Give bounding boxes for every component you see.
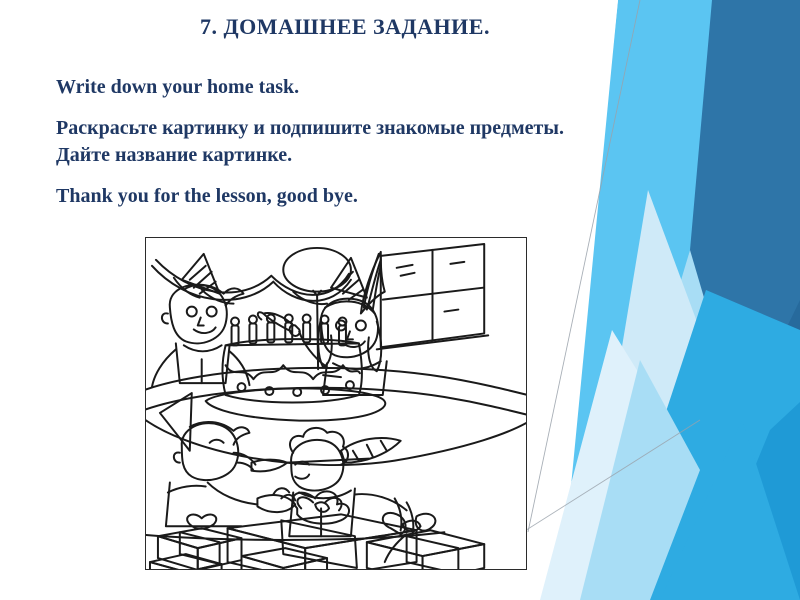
child-right-hat-stripe-2 [367, 445, 373, 457]
decor-shape-steel-dark [700, 0, 800, 430]
boy-front-ear [174, 452, 180, 462]
cake-dot-1 [238, 383, 246, 391]
gift-mid-top [241, 548, 327, 568]
picture-frame [145, 237, 527, 570]
boy-left-arm-r [230, 351, 250, 385]
boy-left-ear [162, 313, 168, 323]
boy-front-fingers-1 [273, 488, 289, 494]
gift-right-ribbon [407, 536, 459, 569]
girl-right-nose [347, 331, 353, 339]
boy-left-eye-r [207, 307, 217, 317]
window-shine-3 [450, 262, 464, 264]
birthday-party-illustration [146, 238, 526, 569]
boy-left-collar [184, 345, 222, 351]
page-title: 7. ДОМАШНЕЕ ЗАДАНИЕ. [0, 14, 690, 40]
boy-front-eye [210, 440, 224, 443]
decor-shape-sky-verypale [580, 190, 700, 600]
decor-shape-steel [668, 0, 800, 420]
boy-front-hand [257, 495, 295, 512]
window-shine-1 [397, 265, 413, 268]
decor-shape-sky-pale [586, 250, 740, 600]
cake-plate [206, 388, 386, 420]
child-right-mouth [295, 475, 309, 479]
decor-shape-pale-lower [540, 330, 668, 600]
girl-right-eye-r [356, 321, 366, 331]
table-front [146, 413, 526, 465]
body-line-1: Write down your home task. [56, 74, 616, 101]
boy-left-eye-l [187, 307, 197, 317]
body-line-3: Thank you for the lesson, good bye. [56, 183, 616, 210]
child-right-hat-stripe-3 [381, 441, 387, 451]
gift-big-bow-loop-l [297, 497, 313, 508]
decor-shape-pale-lower2 [580, 360, 700, 600]
boy-front-shoulder [168, 486, 206, 493]
body-line-2: Раскрасьте картинку и подпишите знакомые… [56, 115, 616, 169]
window-shine-2 [401, 273, 415, 276]
table-edge [146, 388, 526, 417]
gift-left-face [158, 536, 198, 569]
girl-right-blower-tip [258, 312, 264, 319]
window-shine-4 [444, 310, 458, 312]
body-text-block: Write down your home task. Раскрасьте ка… [56, 74, 616, 210]
boy-left-mouth [194, 327, 216, 333]
decor-hairline-cross [520, 420, 700, 534]
boy-front-arm [208, 483, 258, 505]
curtain-fold-3 [364, 254, 379, 308]
boy-left-nose [198, 318, 204, 326]
boy-left-head [170, 285, 227, 344]
decor-shape-azure-deep [700, 402, 800, 600]
slide-canvas: 7. ДОМАШНЕЕ ЗАДАНИЕ. Write down your hom… [0, 0, 800, 600]
decor-shape-azure-mid [660, 420, 800, 600]
decor-shape-azure [604, 290, 800, 600]
